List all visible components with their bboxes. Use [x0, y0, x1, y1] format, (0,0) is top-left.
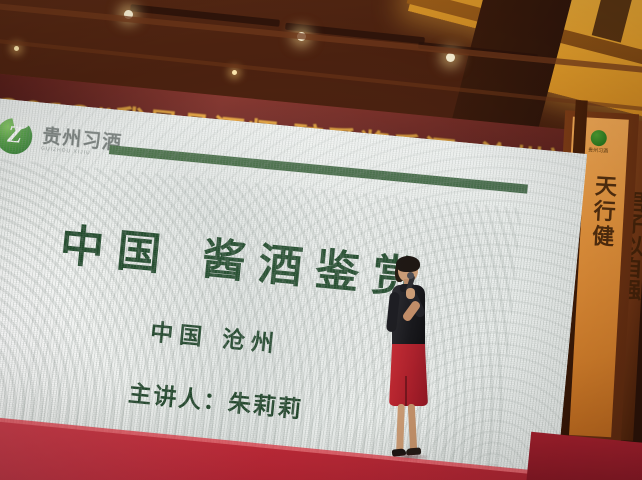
event-photo-scene: 2018“我是品酒师·醉爱酱香酒”沧州站民间品酒师活动 君子以自强 贵州习酒 天… [0, 0, 642, 480]
recessed-spotlight-icon [14, 46, 19, 51]
microphone-head [407, 272, 414, 279]
led-presentation-screen: Z 贵州习酒 GUIZHOU XIJIU 中国 酱酒鉴赏 中国 沧州 主讲人：朱… [0, 92, 587, 480]
presenter-right-leg [408, 404, 418, 452]
presenter-skirt-slit [405, 376, 407, 406]
xijiu-badge-icon: 贵州习酒 [585, 129, 612, 156]
logo-circle [590, 130, 607, 147]
recessed-spotlight-icon [232, 70, 237, 75]
presenter-hair [396, 256, 420, 272]
presenter-red-skirt [389, 344, 428, 406]
presenter-hand [406, 288, 415, 299]
female-presenter [378, 258, 438, 468]
screen-vignette [0, 92, 587, 480]
presenter-left-leg [396, 404, 405, 452]
side-banner-brand-name: 贵州习酒 [585, 146, 611, 154]
recessed-spotlight-icon [446, 53, 455, 62]
